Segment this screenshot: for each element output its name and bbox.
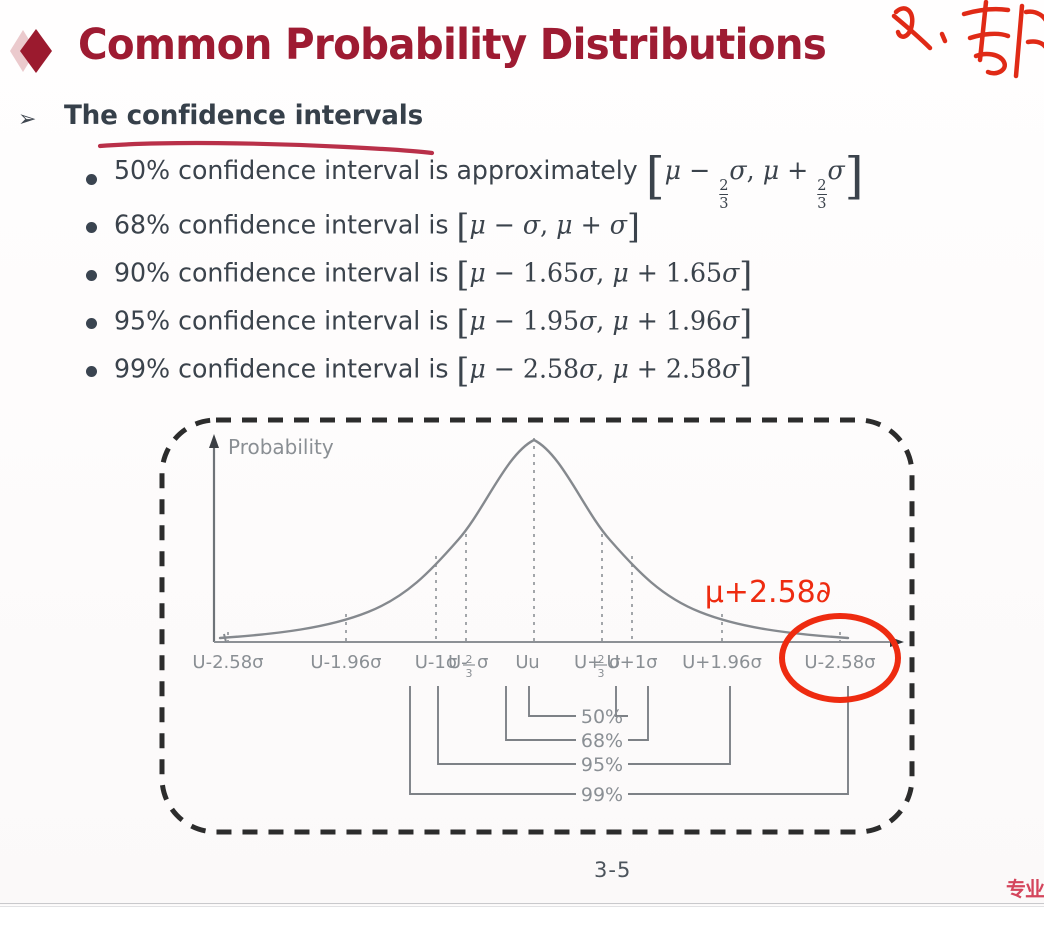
list-item: 95% confidence interval is [μ − 1.95σ, μ… bbox=[0, 299, 1044, 347]
slide-title-row: Common Probability Distributions bbox=[0, 8, 1044, 86]
arrow-bullet-icon: ➢ bbox=[18, 108, 36, 130]
bracket-label: 99% bbox=[581, 784, 623, 806]
svg-text:2: 2 bbox=[466, 653, 473, 666]
bottom-divider bbox=[0, 903, 1044, 904]
bracket-label: 95% bbox=[581, 754, 623, 776]
x-tick-label: U-2.58σ bbox=[804, 652, 875, 673]
bullet-list: 50% confidence interval is approximately… bbox=[0, 155, 1044, 395]
below-slide-area bbox=[0, 907, 1044, 940]
bracket-label: 50% bbox=[581, 706, 623, 728]
red-annotation-text: μ+2.58∂ bbox=[705, 575, 832, 610]
svg-text:2: 2 bbox=[598, 653, 605, 666]
slide-canvas: Common Probability Distributions ➢ The c… bbox=[0, 0, 1044, 905]
normal-curve-figure: Probability U-2.58σ bbox=[158, 416, 916, 836]
x-tick-label-mu: u bbox=[528, 652, 539, 673]
x-tick-label-plus-two-thirds: U+ 2 3 σ bbox=[574, 652, 620, 680]
bullet-dot-icon bbox=[86, 174, 97, 185]
bracket-label: 68% bbox=[581, 730, 623, 752]
svg-text:3: 3 bbox=[466, 667, 473, 680]
bullet-dot-icon bbox=[86, 270, 97, 281]
svg-text:σ: σ bbox=[609, 652, 620, 673]
bracket-68 bbox=[506, 686, 648, 740]
subheading-row: ➢ The confidence intervals bbox=[0, 98, 1044, 148]
bracket-labels: 50% 68% 95% 99% bbox=[581, 706, 623, 806]
page-number: 3-5 bbox=[594, 858, 631, 882]
handwritten-annotation-top-right bbox=[890, 0, 1044, 94]
list-item: 90% confidence interval is [μ − 1.65σ, μ… bbox=[0, 251, 1044, 299]
list-item: 50% confidence interval is approximately… bbox=[0, 155, 1044, 203]
bullet-dot-icon bbox=[86, 222, 97, 233]
footer-branding-text: 专业 bbox=[1006, 873, 1044, 902]
confidence-brackets bbox=[410, 686, 848, 794]
list-item: 99% confidence interval is [μ − 2.58σ, μ… bbox=[0, 347, 1044, 395]
bullet-dot-icon bbox=[86, 366, 97, 377]
subheading-text: The confidence intervals bbox=[64, 100, 423, 131]
bullet-text-90: 90% confidence interval is [μ − 1.65σ, μ… bbox=[114, 255, 752, 295]
bullet-text-95: 95% confidence interval is [μ − 1.95σ, μ… bbox=[114, 303, 752, 343]
list-item: 68% confidence interval is [μ − σ, μ + σ… bbox=[0, 203, 1044, 251]
bullet-text-99: 99% confidence interval is [μ − 2.58σ, μ… bbox=[114, 351, 752, 391]
diamond-bullet-icon bbox=[6, 26, 64, 76]
x-tick-label-minus-two-thirds: U- 2 3 σ bbox=[448, 652, 488, 680]
x-tick-label: U-2.58σ bbox=[192, 652, 263, 673]
tick-guides bbox=[228, 438, 840, 642]
bullet-dot-icon bbox=[86, 318, 97, 329]
y-axis-arrowhead bbox=[209, 434, 219, 448]
y-axis-label: Probability bbox=[228, 435, 334, 459]
bullet-text-68: 68% confidence interval is [μ − σ, μ + σ… bbox=[114, 207, 640, 247]
svg-text:3: 3 bbox=[598, 667, 605, 680]
svg-text:σ: σ bbox=[477, 652, 488, 673]
bullet-text-50: 50% confidence interval is approximately… bbox=[114, 147, 864, 211]
x-tick-label: U bbox=[515, 652, 528, 673]
curve-left-tail-tick bbox=[224, 634, 226, 642]
x-tick-label: U+1.96σ bbox=[682, 652, 762, 673]
page-title: Common Probability Distributions bbox=[78, 20, 826, 70]
x-tick-label: U-1.96σ bbox=[310, 652, 381, 673]
